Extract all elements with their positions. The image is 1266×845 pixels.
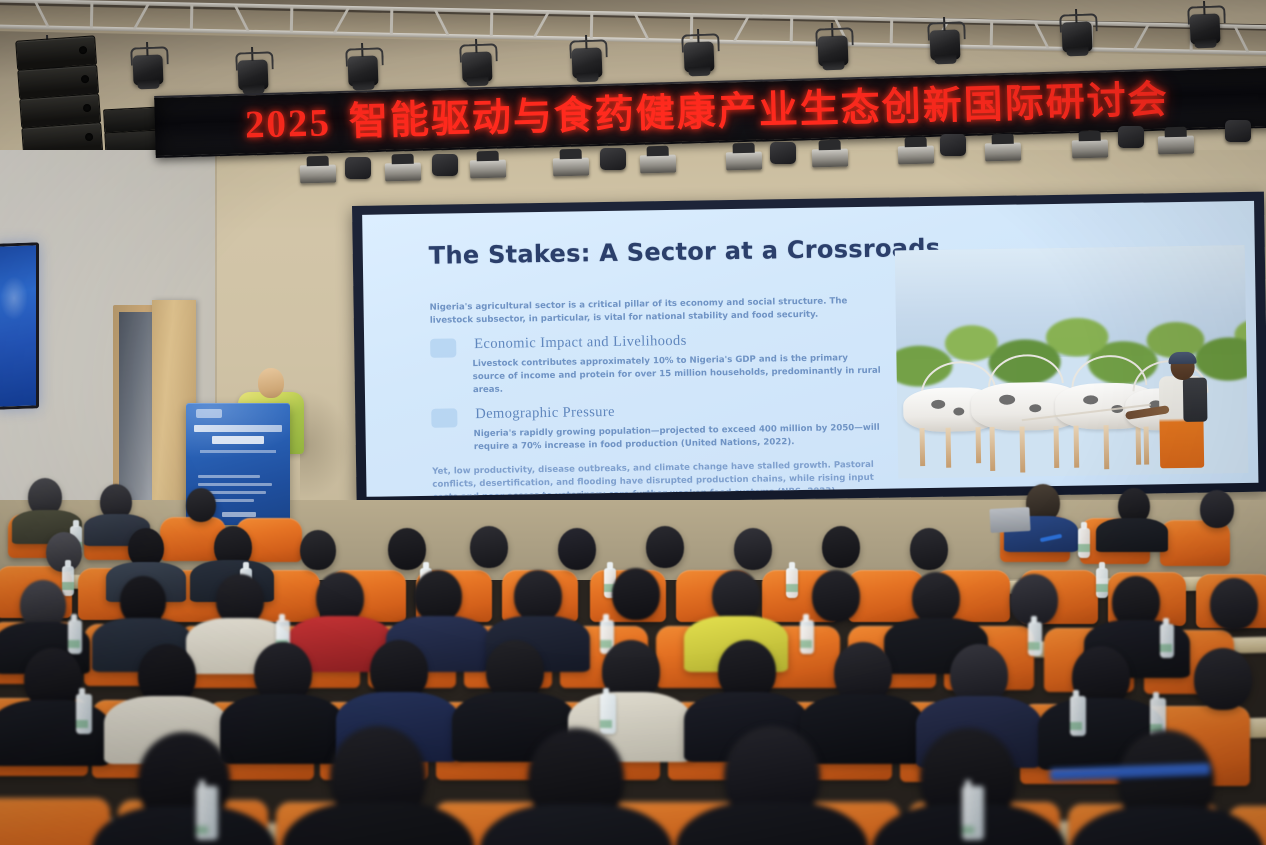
slide-section-demographic: Demographic Pressure Nigeria's rapidly g… bbox=[431, 401, 884, 455]
water-bottle[interactable] bbox=[962, 786, 984, 840]
led-banner-year: 2025 bbox=[244, 101, 331, 146]
wall-wash-light-icon bbox=[812, 149, 848, 168]
wall-wash-light-icon bbox=[553, 158, 589, 177]
attendee-head bbox=[470, 526, 508, 568]
water-bottle[interactable] bbox=[196, 786, 218, 840]
attendee-shoulders bbox=[0, 700, 110, 766]
attendee-head bbox=[414, 570, 462, 622]
attendee-head bbox=[646, 526, 684, 568]
lectern-banner-title-line1 bbox=[194, 425, 282, 432]
presenter-head bbox=[258, 368, 284, 398]
attendee-head bbox=[734, 528, 772, 570]
slide-section-heading: Economic Impact and Livelihoods bbox=[474, 331, 882, 353]
slide-intro-paragraph: Nigeria's agricultural sector is a criti… bbox=[430, 295, 882, 328]
photo-herder-cap bbox=[1168, 352, 1196, 364]
moving-head-light-icon bbox=[345, 157, 371, 179]
par-light-icon bbox=[1061, 21, 1092, 52]
attendee-head bbox=[514, 570, 562, 622]
water-bottle[interactable] bbox=[1028, 622, 1042, 656]
moving-head-light-icon bbox=[1225, 120, 1251, 142]
par-light-icon bbox=[461, 51, 492, 82]
slide-section-body: Nigeria's rapidly growing population—pro… bbox=[474, 422, 884, 455]
water-bottle[interactable] bbox=[786, 568, 798, 598]
attendee-head bbox=[1194, 648, 1252, 710]
water-bottle[interactable] bbox=[1070, 696, 1086, 736]
moving-head-light-icon bbox=[1118, 126, 1144, 148]
lectern-banner-subtitle bbox=[200, 450, 276, 453]
slide-photo-cattle-herder bbox=[895, 245, 1249, 478]
water-bottle[interactable] bbox=[1160, 624, 1174, 658]
water-bottle[interactable] bbox=[68, 620, 82, 654]
attendee-head bbox=[1210, 578, 1258, 630]
attendee-shoulders bbox=[800, 694, 924, 764]
attendee-head bbox=[1200, 490, 1234, 528]
water-bottle[interactable] bbox=[1078, 528, 1090, 558]
water-bottle[interactable] bbox=[600, 694, 616, 734]
slide-section-heading: Demographic Pressure bbox=[475, 401, 883, 423]
wall-wash-light-icon bbox=[898, 146, 934, 165]
wall-wash-light-icon bbox=[470, 160, 506, 179]
slide-body-column: Nigeria's agricultural sector is a criti… bbox=[430, 295, 885, 497]
wall-wash-light-icon bbox=[640, 155, 676, 174]
attendee-head bbox=[712, 570, 760, 622]
square-placeholder-icon bbox=[431, 409, 457, 428]
par-light-icon bbox=[237, 59, 268, 90]
slide-section-body: Livestock contributes approximately 10% … bbox=[472, 352, 883, 398]
slide-title: The Stakes: A Sector at a Crossroads bbox=[429, 234, 941, 270]
lectern-banner-title-line2 bbox=[212, 436, 264, 444]
photo-herder-vest bbox=[1183, 378, 1208, 422]
side-display-screen bbox=[0, 242, 39, 410]
attendee-shoulders bbox=[220, 694, 344, 764]
par-light-icon bbox=[683, 41, 714, 72]
wall-wash-light-icon bbox=[985, 143, 1021, 162]
par-light-icon bbox=[571, 47, 602, 78]
moving-head-light-icon bbox=[432, 154, 458, 176]
attendee-head bbox=[186, 488, 216, 522]
par-light-icon bbox=[347, 55, 378, 86]
water-bottle[interactable] bbox=[1096, 568, 1108, 598]
lectern-logo bbox=[196, 409, 222, 418]
wall-wash-light-icon bbox=[300, 165, 336, 184]
moving-head-light-icon bbox=[940, 134, 966, 156]
moving-head-light-icon bbox=[600, 148, 626, 170]
attendee-head bbox=[300, 530, 336, 570]
attendee-head bbox=[912, 572, 960, 624]
par-light-icon bbox=[1189, 13, 1220, 44]
wall-wash-light-icon bbox=[1072, 140, 1108, 159]
laptop[interactable] bbox=[989, 507, 1030, 533]
water-bottle[interactable] bbox=[800, 620, 814, 654]
projection-screen: The Stakes: A Sector at a Crossroads Nig… bbox=[352, 192, 1266, 506]
wall-wash-light-icon bbox=[726, 152, 762, 171]
audience-seating bbox=[0, 470, 1266, 845]
water-bottle[interactable] bbox=[62, 566, 74, 596]
water-bottle[interactable] bbox=[76, 694, 92, 734]
attendee-shoulders bbox=[1096, 518, 1168, 552]
wall-wash-light-icon bbox=[385, 163, 421, 182]
par-light-icon bbox=[132, 54, 163, 85]
attendee-head bbox=[822, 526, 860, 568]
attendee-head bbox=[388, 528, 426, 570]
par-light-icon bbox=[817, 35, 848, 66]
attendee-head bbox=[612, 568, 660, 620]
attendee-head bbox=[558, 528, 596, 570]
par-light-icon bbox=[929, 29, 960, 60]
square-placeholder-icon bbox=[430, 339, 456, 358]
conference-hall-photo: 2025智能驱动与食药健康产业生态创新国际研讨会 The Stakes: A S… bbox=[0, 0, 1266, 845]
slide-section-economic: Economic Impact and Livelihoods Livestoc… bbox=[430, 331, 883, 398]
attendee-head bbox=[910, 528, 948, 570]
presentation-slide: The Stakes: A Sector at a Crossroads Nig… bbox=[362, 201, 1258, 497]
moving-head-light-icon bbox=[770, 142, 796, 164]
wall-wash-light-icon bbox=[1158, 136, 1194, 155]
attendee-head bbox=[812, 570, 860, 622]
